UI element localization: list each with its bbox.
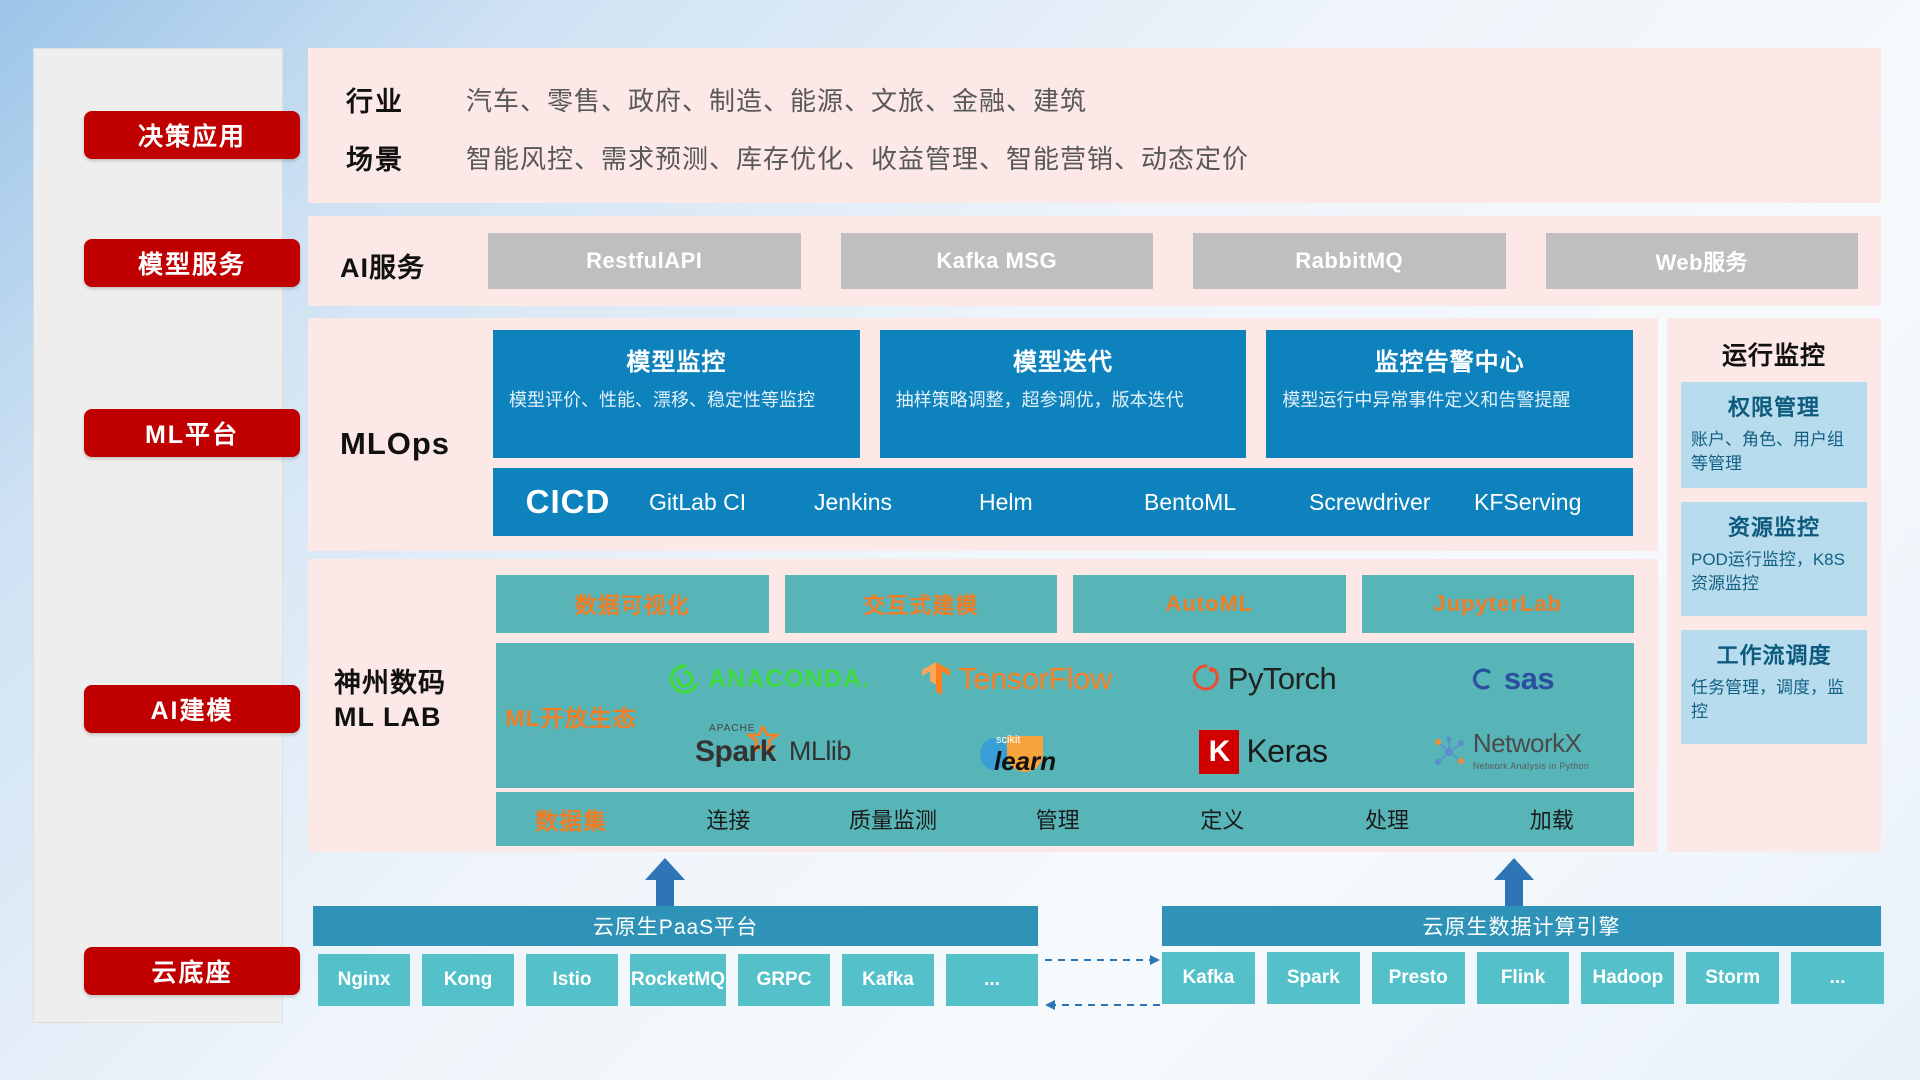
cloud-link-connectors (1040, 945, 1165, 1030)
cicd-item-bentoml[interactable]: BentoML (1138, 491, 1303, 514)
dataset-row: 数据集 连接 质量监测 管理 定义 处理 加载 (496, 792, 1634, 846)
engine-chip-spark[interactable]: Spark (1267, 952, 1360, 1004)
engine-chip-presto[interactable]: Presto (1372, 952, 1465, 1004)
cloud-chip-kafka[interactable]: Kafka (842, 954, 934, 1006)
left-rail: 决策应用 模型服务 ML平台 AI建模 云底座 (33, 48, 283, 1023)
mlops-card-model-monitoring[interactable]: 模型监控 模型评价、性能、漂移、稳定性等监控 (493, 330, 860, 458)
networkx-subtitle: Network Analysis in Python (1473, 761, 1589, 771)
engine-chip-storm[interactable]: Storm (1686, 952, 1779, 1004)
logo-anaconda: ANACONDA. (669, 663, 870, 695)
industry-values: 汽车、零售、政府、制造、能源、文旅、金融、建筑 (466, 81, 1087, 118)
cloud-chip-kong[interactable]: Kong (422, 954, 514, 1006)
rail-tag-decision-app[interactable]: 决策应用 (84, 111, 300, 159)
monitor-card-permission[interactable]: 权限管理 账户、角色、用户组等管理 (1681, 382, 1867, 488)
rail-tag-model-service[interactable]: 模型服务 (84, 239, 300, 287)
rail-tag-ai-modeling[interactable]: AI建模 (84, 685, 300, 733)
mlops-label: MLOps (340, 426, 450, 462)
logo-label: learn (994, 746, 1056, 777)
cloud-paas-bar[interactable]: 云原生PaaS平台 (313, 906, 1038, 946)
ml-lab-label: 神州数码 ML LAB (334, 667, 446, 735)
card-title: 模型监控 (509, 342, 844, 377)
cicd-item-gitlab-ci[interactable]: GitLab CI (643, 491, 808, 514)
cicd-item-screwdriver[interactable]: Screwdriver (1303, 491, 1468, 514)
keras-icon: K (1199, 730, 1239, 774)
ai-service-label: AI服务 (340, 246, 425, 285)
cloud-paas-chips: Nginx Kong Istio RocketMQ GRPC Kafka ... (318, 954, 1038, 1006)
ai-service-item-web-service[interactable]: Web服务 (1546, 233, 1859, 289)
card-title: 模型迭代 (896, 342, 1231, 377)
industry-label: 行业 (346, 80, 466, 119)
cicd-title: CICD (493, 483, 643, 521)
ml-eco-row: ML开放生态 ANACONDA. (496, 643, 1634, 788)
dataset-item-management[interactable]: 管理 (975, 803, 1140, 835)
card-desc: 模型评价、性能、漂移、稳定性等监控 (509, 387, 844, 413)
ml-lab-label-line2: ML LAB (334, 701, 446, 735)
lab-chip-jupyterlab[interactable]: JupyterLab (1362, 575, 1635, 633)
logo-pytorch: PyTorch (1191, 661, 1336, 697)
logo-label: MLlib (789, 736, 851, 767)
cloud-chip-rocketmq[interactable]: RocketMQ (630, 954, 726, 1006)
cicd-item-helm[interactable]: Helm (973, 491, 1138, 514)
cloud-chip-istio[interactable]: Istio (526, 954, 618, 1006)
monitor-card-resource[interactable]: 资源监控 POD运行监控，K8S资源监控 (1681, 502, 1867, 616)
logo-tensorflow: TensorFlow (921, 661, 1112, 697)
logo-networkx: NetworkX Network Analysis in Python (1432, 730, 1589, 774)
mlops-band: MLOps 模型监控 模型评价、性能、漂移、稳定性等监控 模型迭代 抽样策略调整… (308, 318, 1658, 551)
card-desc: 账户、角色、用户组等管理 (1691, 428, 1857, 476)
mlops-card-model-iteration[interactable]: 模型迭代 抽样策略调整，超参调优，版本迭代 (880, 330, 1247, 458)
logo-label: ANACONDA. (708, 665, 870, 694)
ai-service-item-restfulapi[interactable]: RestfulAPI (488, 233, 801, 289)
card-title: 监控告警中心 (1282, 342, 1617, 377)
tensorflow-icon (921, 661, 951, 697)
cicd-bar: CICD GitLab CI Jenkins Helm BentoML Scre… (493, 468, 1633, 536)
card-desc: POD运行监控，K8S资源监控 (1691, 548, 1857, 596)
ml-eco-label: ML开放生态 (496, 699, 646, 733)
runtime-monitor-band: 运行监控 权限管理 账户、角色、用户组等管理 资源监控 POD运行监控，K8S资… (1667, 318, 1881, 852)
dataset-item-definition[interactable]: 定义 (1140, 803, 1305, 835)
cloud-chip-nginx[interactable]: Nginx (318, 954, 410, 1006)
ai-service-items: RestfulAPI Kafka MSG RabbitMQ Web服务 (488, 233, 1858, 289)
scikit-label: scikit (996, 734, 1020, 746)
industry-scenario-band: 行业 汽车、零售、政府、制造、能源、文旅、金融、建筑 场景 智能风控、需求预测、… (308, 48, 1881, 203)
cloud-engine-chips: Kafka Spark Presto Flink Hadoop Storm ..… (1162, 952, 1884, 1004)
mlops-card-alert-center[interactable]: 监控告警中心 模型运行中异常事件定义和告警提醒 (1266, 330, 1633, 458)
ai-service-item-kafka-msg[interactable]: Kafka MSG (841, 233, 1154, 289)
ml-lab-label-line1: 神州数码 (334, 667, 446, 701)
rail-tag-ml-platform[interactable]: ML平台 (84, 409, 300, 457)
industry-row: 行业 汽车、零售、政府、制造、能源、文旅、金融、建筑 (346, 80, 1087, 119)
card-desc: 抽样策略调整，超参调优，版本迭代 (896, 387, 1231, 413)
card-desc: 任务管理，调度，监控 (1691, 676, 1857, 724)
card-title: 资源监控 (1691, 510, 1857, 542)
dataset-item-quality-monitoring[interactable]: 质量监测 (811, 803, 976, 835)
pytorch-icon (1191, 663, 1221, 695)
logo-label: PyTorch (1228, 661, 1336, 697)
engine-chip-kafka[interactable]: Kafka (1162, 952, 1255, 1004)
cicd-item-jenkins[interactable]: Jenkins (808, 491, 973, 514)
runtime-monitor-title: 运行监控 (1667, 336, 1881, 372)
logo-label: sas (1504, 661, 1554, 697)
scenario-row: 场景 智能风控、需求预测、库存优化、收益管理、智能营销、动态定价 (346, 138, 1249, 177)
ml-lab-band: 神州数码 ML LAB 数据可视化 交互式建模 AutoML JupyterLa… (308, 559, 1658, 852)
scenario-values: 智能风控、需求预测、库存优化、收益管理、智能营销、动态定价 (466, 139, 1249, 176)
cloud-chip-more[interactable]: ... (946, 954, 1038, 1006)
card-desc: 模型运行中异常事件定义和告警提醒 (1282, 387, 1617, 413)
cicd-items: GitLab CI Jenkins Helm BentoML Screwdriv… (643, 491, 1633, 514)
ml-eco-logos: ANACONDA. TensorFlow (646, 643, 1634, 788)
arrow-up-paas-icon (645, 858, 685, 906)
logo-sas: sas (1467, 661, 1554, 697)
logo-label: TensorFlow (958, 661, 1112, 697)
dataset-label: 数据集 (496, 802, 646, 836)
networkx-icon (1432, 736, 1466, 768)
cloud-engine-bar[interactable]: 云原生数据计算引擎 (1162, 906, 1881, 946)
ai-service-item-rabbitmq[interactable]: RabbitMQ (1193, 233, 1506, 289)
lab-chip-automl[interactable]: AutoML (1073, 575, 1346, 633)
logo-keras: K Keras (1199, 730, 1327, 774)
cicd-item-kfserving[interactable]: KFServing (1468, 491, 1633, 514)
spark-label: Spark (695, 735, 776, 768)
lab-chip-data-visualization[interactable]: 数据可视化 (496, 575, 769, 633)
rail-tag-cloud-base[interactable]: 云底座 (84, 947, 300, 995)
dataset-item-connect[interactable]: 连接 (646, 803, 811, 835)
sas-icon (1467, 664, 1497, 694)
engine-chip-hadoop[interactable]: Hadoop (1581, 952, 1674, 1004)
logo-label: Keras (1246, 733, 1327, 770)
lab-chip-interactive-modeling[interactable]: 交互式建模 (785, 575, 1058, 633)
card-title: 工作流调度 (1691, 638, 1857, 670)
anaconda-icon (669, 663, 701, 695)
spark-apache-label: APACHE (709, 723, 755, 734)
dataset-items: 连接 质量监测 管理 定义 处理 加载 (646, 803, 1634, 835)
engine-chip-flink[interactable]: Flink (1477, 952, 1570, 1004)
logo-scikit-learn: scikit learn (977, 730, 1056, 774)
logo-spark-mllib: APACHE Spark MLlib (688, 735, 851, 769)
card-title: 权限管理 (1691, 390, 1857, 422)
cloud-chip-grpc[interactable]: GRPC (738, 954, 830, 1006)
architecture-diagram: 决策应用 模型服务 ML平台 AI建模 云底座 行业 汽车、零售、政府、制造、能… (0, 0, 1920, 1080)
mlops-cards: 模型监控 模型评价、性能、漂移、稳定性等监控 模型迭代 抽样策略调整，超参调优，… (493, 330, 1633, 458)
monitor-card-workflow[interactable]: 工作流调度 任务管理，调度，监控 (1681, 630, 1867, 744)
ml-lab-chips: 数据可视化 交互式建模 AutoML JupyterLab (496, 575, 1634, 633)
ai-service-band: AI服务 RestfulAPI Kafka MSG RabbitMQ Web服务 (308, 216, 1881, 306)
engine-chip-more[interactable]: ... (1791, 952, 1884, 1004)
scenario-label: 场景 (346, 138, 466, 177)
arrow-up-engine-icon (1494, 858, 1534, 906)
logo-label: NetworkX (1473, 730, 1589, 757)
dataset-item-processing[interactable]: 处理 (1305, 803, 1470, 835)
dataset-item-loading[interactable]: 加载 (1469, 803, 1634, 835)
